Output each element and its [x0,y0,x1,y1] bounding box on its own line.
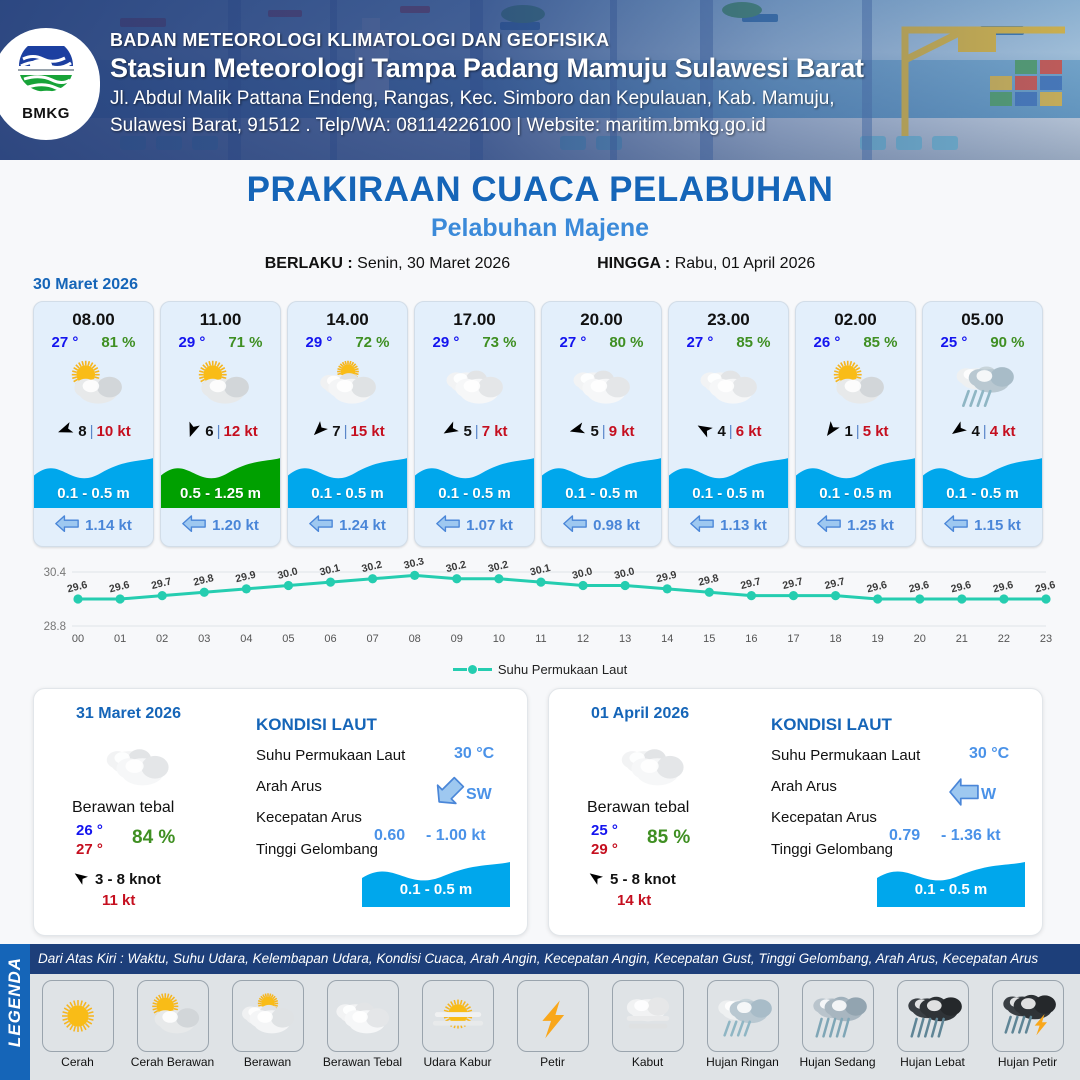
card-time: 20.00 [542,310,661,330]
card-wind-speed: 1 [844,423,852,440]
svg-text:30.3: 30.3 [403,558,426,572]
card-gust: 5 kt [863,423,889,440]
svg-text:29.6: 29.6 [1034,579,1057,596]
card-wind-speed: 6 [205,423,213,440]
legend-item: Berawan [220,980,315,1069]
card-time: 05.00 [923,310,1042,330]
day-temp-max: 27 ° [76,841,103,858]
forecast-card[interactable]: 08.00 27 ° 81 % 8 | 10 kt 0.1 - 0.5 m 1.… [33,301,154,547]
card-current-speed: 1.20 kt [212,517,259,534]
current-speed-label: Kecepatan Arus [771,809,877,826]
day-date: 31 Maret 2026 [76,705,181,723]
legend-marker-icon [468,665,477,674]
card-current: 1.14 kt [34,515,153,536]
day-panel-2: 01 April 2026 Berawan tebal 25 ° 29 ° 85… [548,688,1043,936]
svg-text:30.0: 30.0 [276,565,299,582]
day-date: 01 April 2026 [591,705,689,723]
address-line-1: Jl. Abdul Malik Pattana Endeng, Rangas, … [110,87,1050,111]
card-wind: 6 | 12 kt [161,420,280,443]
svg-text:30.0: 30.0 [613,565,636,582]
card-current: 1.24 kt [288,515,407,536]
current-direction-value: SW [434,777,492,812]
card-wind-speed: 4 [971,423,979,440]
cerah-berawan-icon [161,354,280,416]
legend-line-right [478,668,492,671]
card-gust: 6 kt [736,423,762,440]
svg-text:19: 19 [872,633,884,645]
svg-text:00: 00 [72,633,84,645]
legend-item-label: Udara Kabur [410,1055,505,1069]
card-temp-humidity: 27 ° 81 % [34,334,153,351]
agency-name: BADAN METEOROLOGI KLIMATOLOGI DAN GEOFIS… [110,30,1050,51]
card-humidity: 73 % [482,334,516,351]
day-wind: 3 - 8 knot [72,869,161,890]
card-temp-humidity: 27 ° 85 % [669,334,788,351]
svg-text:02: 02 [156,633,168,645]
card-temperature: 29 ° [178,334,205,351]
svg-text:09: 09 [451,633,463,645]
svg-text:06: 06 [324,633,336,645]
hujan-petir-icon [992,980,1064,1052]
x-axis-ticks: 0001020304050607080910111213141516171819… [72,633,1052,645]
legend-item: Cerah [30,980,125,1069]
legend-item-label: Hujan Ringan [695,1055,790,1069]
legend-item-label: Berawan [220,1055,315,1069]
current-direction-label: Arah Arus [771,778,837,795]
current-direction-icon [690,515,714,536]
address-line-2: Sulawesi Barat, 91512 . Telp/WA: 0811422… [110,114,1050,138]
legend-item: Petir [505,980,600,1069]
wind-separator: | [856,423,860,440]
svg-text:29.7: 29.7 [781,575,804,592]
svg-text:04: 04 [240,633,252,645]
legend-item-label: Berawan Tebal [315,1055,410,1069]
svg-text:23: 23 [1040,633,1052,645]
svg-text:05: 05 [282,633,294,645]
wind-direction-icon [441,420,460,443]
berawan-tebal-icon [619,731,689,779]
current-direction-text: SW [466,786,492,804]
svg-text:29.6: 29.6 [908,579,931,596]
card-wind-speed: 7 [332,423,340,440]
wind-direction-icon [72,869,89,890]
berawan-tebal-icon [542,354,661,416]
page-title: PRAKIRAAN CUACA PELABUHAN [0,170,1080,210]
current-direction-icon [434,777,464,812]
card-temp-humidity: 27 ° 80 % [542,334,661,351]
bmkg-emblem-icon [15,46,77,104]
page-header: BMKG BADAN METEOROLOGI KLIMATOLOGI DAN G… [0,0,1080,160]
card-gust: 7 kt [482,423,508,440]
wind-separator: | [983,423,987,440]
svg-text:18: 18 [829,633,841,645]
title-block: PRAKIRAAN CUACA PELABUHAN Pelabuhan Maje… [0,160,1080,273]
berawan-tebal-icon [669,354,788,416]
wind-separator: | [475,423,479,440]
svg-text:16: 16 [745,633,757,645]
svg-text:29.9: 29.9 [234,569,257,586]
current-direction-label: Arah Arus [256,778,322,795]
berawan-tebal-icon [104,731,174,779]
card-time: 14.00 [288,310,407,330]
card-time: 02.00 [796,310,915,330]
card-temperature: 27 ° [559,334,586,351]
day-wind-range: 3 - 8 knot [95,871,161,888]
current-speed-label: Kecepatan Arus [256,809,362,826]
wind-direction-icon [56,420,75,443]
card-current: 1.15 kt [923,515,1042,536]
bmkg-logo: BMKG [0,28,100,140]
legend-item-label: Hujan Petir [980,1055,1075,1069]
svg-text:30.2: 30.2 [361,559,384,576]
day-gust: 11 kt [102,892,135,909]
wind-separator: | [344,423,348,440]
legend-item: Hujan Lebat [885,980,980,1069]
card-humidity: 71 % [228,334,262,351]
udara-kabur-icon [422,980,494,1052]
svg-text:29.6: 29.6 [950,579,973,596]
sst-series-line [78,575,1046,599]
card-wind: 8 | 10 kt [34,420,153,443]
card-time: 11.00 [161,310,280,330]
wind-direction-icon [587,869,604,890]
cerah-icon [42,980,114,1052]
svg-text:22: 22 [998,633,1010,645]
svg-text:30.1: 30.1 [529,562,552,579]
wind-separator: | [90,423,94,440]
card-gust: 10 kt [97,423,131,440]
wave-height-label: Tinggi Gelombang [771,841,893,858]
day-temp-min: 25 ° [591,822,618,839]
card-temperature: 27 ° [686,334,713,351]
card-gust: 9 kt [609,423,635,440]
card-current-speed: 0.98 kt [593,517,640,534]
legend-item: Kabut [600,980,695,1069]
station-name: Stasiun Meteorologi Tampa Padang Mamuju … [110,53,1050,84]
card-wave-height: 0.5 - 1.25 m [161,485,280,502]
berawan-tebal-icon [327,980,399,1052]
valid-from: BERLAKU : Senin, 30 Maret 2026 [265,255,510,273]
sst-point-labels: 29.629.629.729.829.930.030.130.230.330.2… [66,558,1057,595]
card-temp-humidity: 26 ° 85 % [796,334,915,351]
card-current-speed: 1.24 kt [339,517,386,534]
svg-text:29.6: 29.6 [108,579,131,596]
card-current-speed: 1.25 kt [847,517,894,534]
svg-text:29.8: 29.8 [697,572,720,589]
berawan-icon [288,354,407,416]
day-wind-range: 5 - 8 knot [610,871,676,888]
card-wave-height: 0.1 - 0.5 m [669,485,788,502]
svg-text:29.7: 29.7 [823,575,846,592]
legend-items-strip: Cerah Cerah Berawan Berawan [30,974,1080,1080]
valid-from-value: Senin, 30 Maret 2026 [357,255,510,272]
card-wind-speed: 5 [590,423,598,440]
current-speed-value-2: - 1.00 kt [426,827,486,845]
cerah-berawan-icon [796,354,915,416]
current-direction-icon [949,777,979,812]
card-wave-height: 0.1 - 0.5 m [796,485,915,502]
current-direction-icon [182,515,206,536]
card-current: 1.20 kt [161,515,280,536]
current-direction-text: W [981,786,996,804]
day-gust: 14 kt [617,892,651,909]
card-current: 1.25 kt [796,515,915,536]
legend-item-label: Cerah Berawan [125,1055,220,1069]
wind-direction-icon [695,420,714,443]
legend-item: Berawan Tebal [315,980,410,1069]
current-speed-value: 0.79 [889,827,920,845]
day-condition: Berawan tebal [72,799,174,817]
sst-value: 30 °C [454,745,494,763]
current-direction-value: W [949,777,996,812]
day-panel-1: 31 Maret 2026 Berawan tebal 26 ° 27 ° 84… [33,688,528,936]
current-direction-icon [55,515,79,536]
forecast-card[interactable]: 23.00 27 ° 85 % 4 | 6 kt 0.1 - 0.5 m [668,301,789,547]
card-wave-height: 0.1 - 0.5 m [542,485,661,502]
card-current-speed: 1.07 kt [466,517,513,534]
legend-item-label: Cerah [30,1055,125,1069]
card-current-speed: 1.14 kt [85,517,132,534]
forecast-card[interactable]: 11.00 29 ° 71 % 6 | 12 kt 0.5 - 1.25 m 1… [160,301,281,547]
legend-note: Dari Atas Kiri : Waktu, Suhu Udara, Kele… [38,951,1038,966]
current-direction-icon [436,515,460,536]
card-temp-humidity: 29 ° 73 % [415,334,534,351]
wind-separator: | [217,423,221,440]
current-direction-icon [309,515,333,536]
card-wind-speed: 4 [717,423,725,440]
card-gust: 12 kt [224,423,258,440]
forecast-card[interactable]: 05.00 25 ° 90 % 4 | 4 kt 0.1 - 0.5 m [922,301,1043,547]
card-wind-speed: 8 [78,423,86,440]
cerah-berawan-icon [34,354,153,416]
current-direction-icon [817,515,841,536]
legend-item: Cerah Berawan [125,980,220,1069]
svg-text:08: 08 [409,633,421,645]
sst-label: Suhu Permukaan Laut [256,747,405,764]
wind-separator: | [729,423,733,440]
valid-to-value: Rabu, 01 April 2026 [675,255,816,272]
svg-text:20: 20 [914,633,926,645]
chart-legend: Suhu Permukaan Laut [0,662,1080,677]
sst-line-chart: 30.4 28.8 29.629.629.729.829.930.030.130… [20,558,1060,658]
legend-item: Hujan Petir [980,980,1075,1069]
legend-item-label: Hujan Lebat [885,1055,980,1069]
svg-text:30.2: 30.2 [445,559,468,576]
svg-text:01: 01 [114,633,126,645]
svg-text:29.7: 29.7 [739,575,762,592]
legend-item-label: Hujan Sedang [790,1055,885,1069]
day-wave-height: 0.1 - 0.5 m [362,881,510,898]
wave-height-label: Tinggi Gelombang [256,841,378,858]
svg-text:29.8: 29.8 [192,572,215,589]
forecast-card[interactable]: 17.00 29 ° 73 % 5 | 7 kt 0.1 - 0.5 m [414,301,535,547]
hujan-ringan-icon [923,354,1042,416]
valid-from-label: BERLAKU : [265,255,353,272]
card-wind: 7 | 15 kt [288,420,407,443]
valid-to: HINGGA : Rabu, 01 April 2026 [597,255,815,273]
current-speed-value: 0.60 [374,827,405,845]
svg-text:30.0: 30.0 [571,565,594,582]
legend-item: Udara Kabur [410,980,505,1069]
legend-item: Hujan Ringan [695,980,790,1069]
card-wind: 5 | 9 kt [542,420,661,443]
bmkg-logo-text: BMKG [22,105,70,122]
card-gust: 15 kt [351,423,385,440]
svg-text:29.6: 29.6 [66,579,89,596]
hujan-lebat-icon [897,980,969,1052]
berawan-icon [232,980,304,1052]
hourly-forecast-row: 08.00 27 ° 81 % 8 | 10 kt 0.1 - 0.5 m 1.… [33,301,1047,547]
valid-to-label: HINGGA : [597,255,670,272]
svg-text:15: 15 [703,633,715,645]
svg-text:07: 07 [366,633,378,645]
card-temperature: 26 ° [813,334,840,351]
y-axis-max-tick: 30.4 [44,567,67,579]
forecast-card[interactable]: 14.00 29 ° 72 % 7 | 15 kt 0.1 - 0.5 m [287,301,408,547]
petir-icon [517,980,589,1052]
card-temperature: 25 ° [940,334,967,351]
svg-text:21: 21 [956,633,968,645]
wind-direction-icon [822,420,841,443]
sea-conditions-title: KONDISI LAUT [771,715,892,735]
card-wave-height: 0.1 - 0.5 m [923,485,1042,502]
card-temp-humidity: 29 ° 71 % [161,334,280,351]
card-current-speed: 1.13 kt [720,517,767,534]
day-temp-min: 26 ° [76,822,103,839]
validity-range: BERLAKU : Senin, 30 Maret 2026 HINGGA : … [0,255,1080,273]
card-humidity: 80 % [609,334,643,351]
wind-direction-icon [183,420,202,443]
svg-text:29.6: 29.6 [992,579,1015,596]
page-subtitle: Pelabuhan Majene [0,214,1080,243]
wind-separator: | [602,423,606,440]
legend-label: Suhu Permukaan Laut [498,662,627,677]
wind-direction-icon [310,420,329,443]
card-time: 23.00 [669,310,788,330]
cerah-berawan-icon [137,980,209,1052]
svg-text:03: 03 [198,633,210,645]
kabut-icon [612,980,684,1052]
card-humidity: 81 % [101,334,135,351]
legend-item: Hujan Sedang [790,980,885,1069]
card-current-speed: 1.15 kt [974,517,1021,534]
sst-label: Suhu Permukaan Laut [771,747,920,764]
svg-text:13: 13 [619,633,631,645]
card-current: 1.07 kt [415,515,534,536]
svg-text:11: 11 [535,633,546,645]
card-wind: 1 | 5 kt [796,420,915,443]
card-wave-height: 0.1 - 0.5 m [34,485,153,502]
svg-text:12: 12 [577,633,589,645]
card-time: 08.00 [34,310,153,330]
day-humidity: 84 % [132,827,175,849]
card-temperature: 29 ° [305,334,332,351]
wind-direction-icon [949,420,968,443]
card-time: 17.00 [415,310,534,330]
card-temperature: 29 ° [432,334,459,351]
card-current: 1.13 kt [669,515,788,536]
card-temperature: 27 ° [51,334,78,351]
hujan-ringan-icon [707,980,779,1052]
forecast-date-label: 30 Maret 2026 [33,276,138,294]
wind-direction-icon [568,420,587,443]
day-condition: Berawan tebal [587,799,689,817]
day-temp-max: 29 ° [591,841,618,858]
card-wind-speed: 5 [463,423,471,440]
card-current: 0.98 kt [542,515,661,536]
svg-text:17: 17 [787,633,799,645]
card-temp-humidity: 29 ° 72 % [288,334,407,351]
card-wind: 5 | 7 kt [415,420,534,443]
sst-value: 30 °C [969,745,1009,763]
card-humidity: 85 % [863,334,897,351]
legend-item-label: Kabut [600,1055,695,1069]
current-direction-icon [563,515,587,536]
forecast-card[interactable]: 02.00 26 ° 85 % 1 | 5 kt 0.1 - 0.5 m 1.2… [795,301,916,547]
card-wave-height: 0.1 - 0.5 m [415,485,534,502]
card-gust: 4 kt [990,423,1016,440]
day-humidity: 85 % [647,827,690,849]
legend-side-bar: LEGENDA [0,944,30,1080]
day-wind: 5 - 8 knot [587,869,676,890]
legend-line-left [453,668,467,671]
card-humidity: 72 % [355,334,389,351]
current-direction-icon [944,515,968,536]
card-humidity: 90 % [990,334,1024,351]
card-wave-height: 0.1 - 0.5 m [288,485,407,502]
legend-section: LEGENDA Dari Atas Kiri : Waktu, Suhu Uda… [0,944,1080,1080]
card-wind: 4 | 6 kt [669,420,788,443]
sst-chart: 30.4 28.8 29.629.629.729.829.930.030.130… [20,558,1060,658]
sea-conditions-title: KONDISI LAUT [256,715,377,735]
day-wave-height: 0.1 - 0.5 m [877,881,1025,898]
card-wind: 4 | 4 kt [923,420,1042,443]
current-speed-value-2: - 1.36 kt [941,827,1001,845]
hujan-sedang-icon [802,980,874,1052]
svg-text:29.6: 29.6 [866,579,889,596]
card-humidity: 85 % [736,334,770,351]
legend-side-label: LEGENDA [5,949,25,1055]
card-temp-humidity: 25 ° 90 % [923,334,1042,351]
svg-text:10: 10 [493,633,505,645]
y-axis-min-tick: 28.8 [44,621,66,633]
svg-text:30.2: 30.2 [487,559,510,576]
header-text-block: BADAN METEOROLOGI KLIMATOLOGI DAN GEOFIS… [110,30,1050,138]
forecast-card[interactable]: 20.00 27 ° 80 % 5 | 9 kt 0.1 - 0.5 m [541,301,662,547]
svg-text:30.1: 30.1 [318,562,341,579]
berawan-tebal-icon [415,354,534,416]
svg-text:14: 14 [661,633,673,645]
svg-text:29.9: 29.9 [655,569,678,586]
legend-item-label: Petir [505,1055,600,1069]
svg-text:29.7: 29.7 [150,575,173,592]
